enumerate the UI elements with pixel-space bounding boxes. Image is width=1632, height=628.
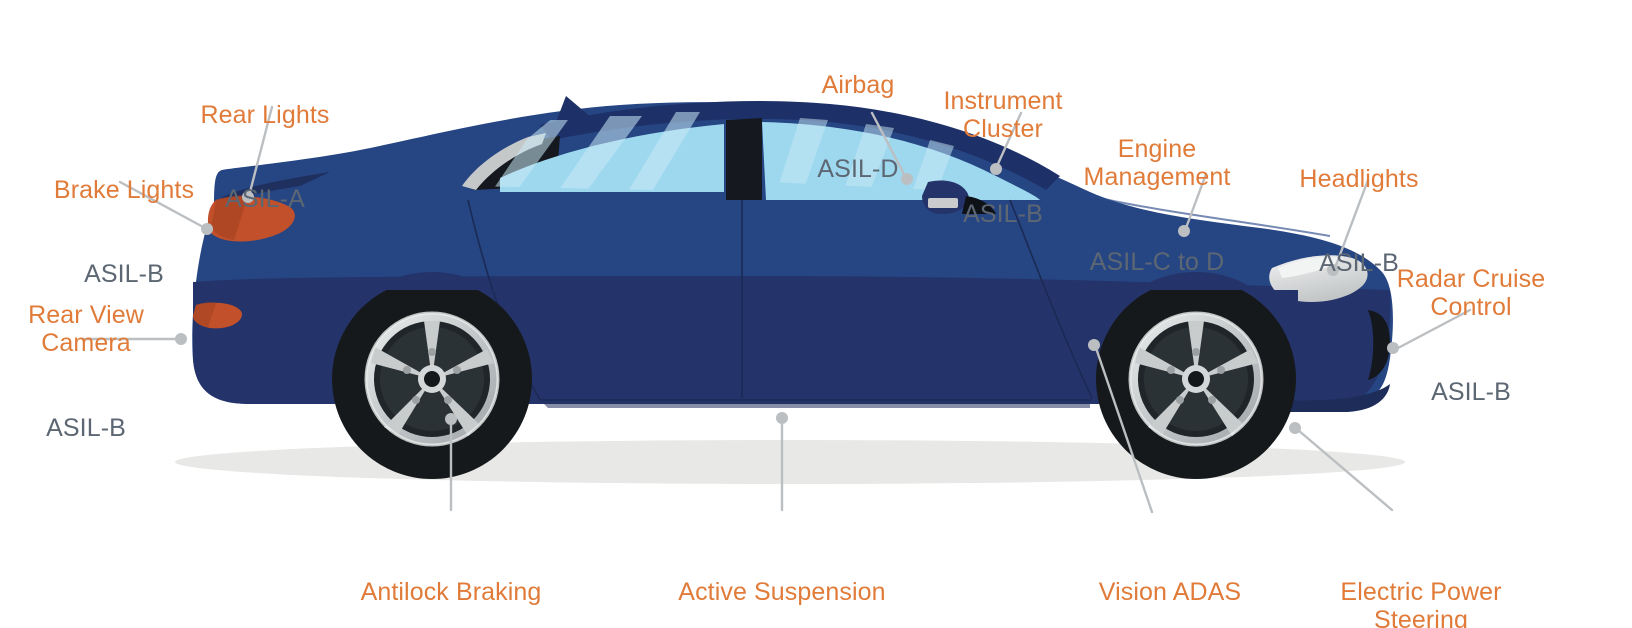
label-title: Electric Power Steering [1340, 578, 1501, 628]
label-title: Rear Lights [201, 101, 330, 129]
label-radar-cruise-control[interactable]: Radar Cruise Control ASIL-B [1397, 208, 1545, 462]
label-electric-power-steering[interactable]: Electric Power Steering ASIL-D [1340, 521, 1501, 628]
dot-electric-power-steering [1289, 422, 1301, 434]
label-title: Airbag [817, 71, 898, 99]
label-asil: ASIL-B [943, 200, 1062, 228]
dot-airbag [901, 173, 913, 185]
label-engine-management[interactable]: Engine Management ASIL-C to D [1084, 78, 1231, 332]
label-asil: ASIL-D [817, 155, 898, 183]
label-antilock-braking[interactable]: Antilock Braking ASIL-D [361, 521, 542, 628]
label-title: Brake Lights [54, 176, 194, 204]
dot-active-suspension [776, 412, 788, 424]
label-title: Headlights [1299, 165, 1418, 193]
label-title: Antilock Braking [361, 578, 542, 606]
label-rear-view-camera[interactable]: Rear View Camera ASIL-B [28, 244, 144, 498]
label-asil: ASIL-C to D [1084, 248, 1231, 276]
asil-car-diagram: Rear Lights ASIL-A Brake Lights ASIL-B R… [0, 0, 1632, 628]
label-asil: ASIL-B [1397, 378, 1545, 406]
label-asil: ASIL-B [28, 414, 144, 442]
label-rear-lights[interactable]: Rear Lights ASIL-A [201, 44, 330, 270]
dot-antilock-braking [445, 413, 457, 425]
label-title: Engine Management [1084, 135, 1231, 192]
label-title: Vision ADAS [1099, 578, 1241, 606]
label-title: Active Suspension [678, 578, 885, 606]
label-title: Radar Cruise Control [1397, 265, 1545, 322]
label-asil: ASIL-A [201, 185, 330, 213]
label-title: Rear View Camera [28, 301, 144, 358]
label-active-suspension[interactable]: Active Suspension ASIL-B to C [678, 521, 885, 628]
label-airbag[interactable]: Airbag ASIL-D [817, 14, 898, 240]
label-title: Instrument Cluster [943, 87, 1062, 144]
label-vision-adas[interactable]: Vision ADAS ASIL-B [1099, 521, 1241, 628]
label-instrument-cluster[interactable]: Instrument Cluster ASIL-B [943, 30, 1062, 284]
dot-vision-adas [1088, 339, 1100, 351]
rear-wheel [332, 279, 532, 479]
